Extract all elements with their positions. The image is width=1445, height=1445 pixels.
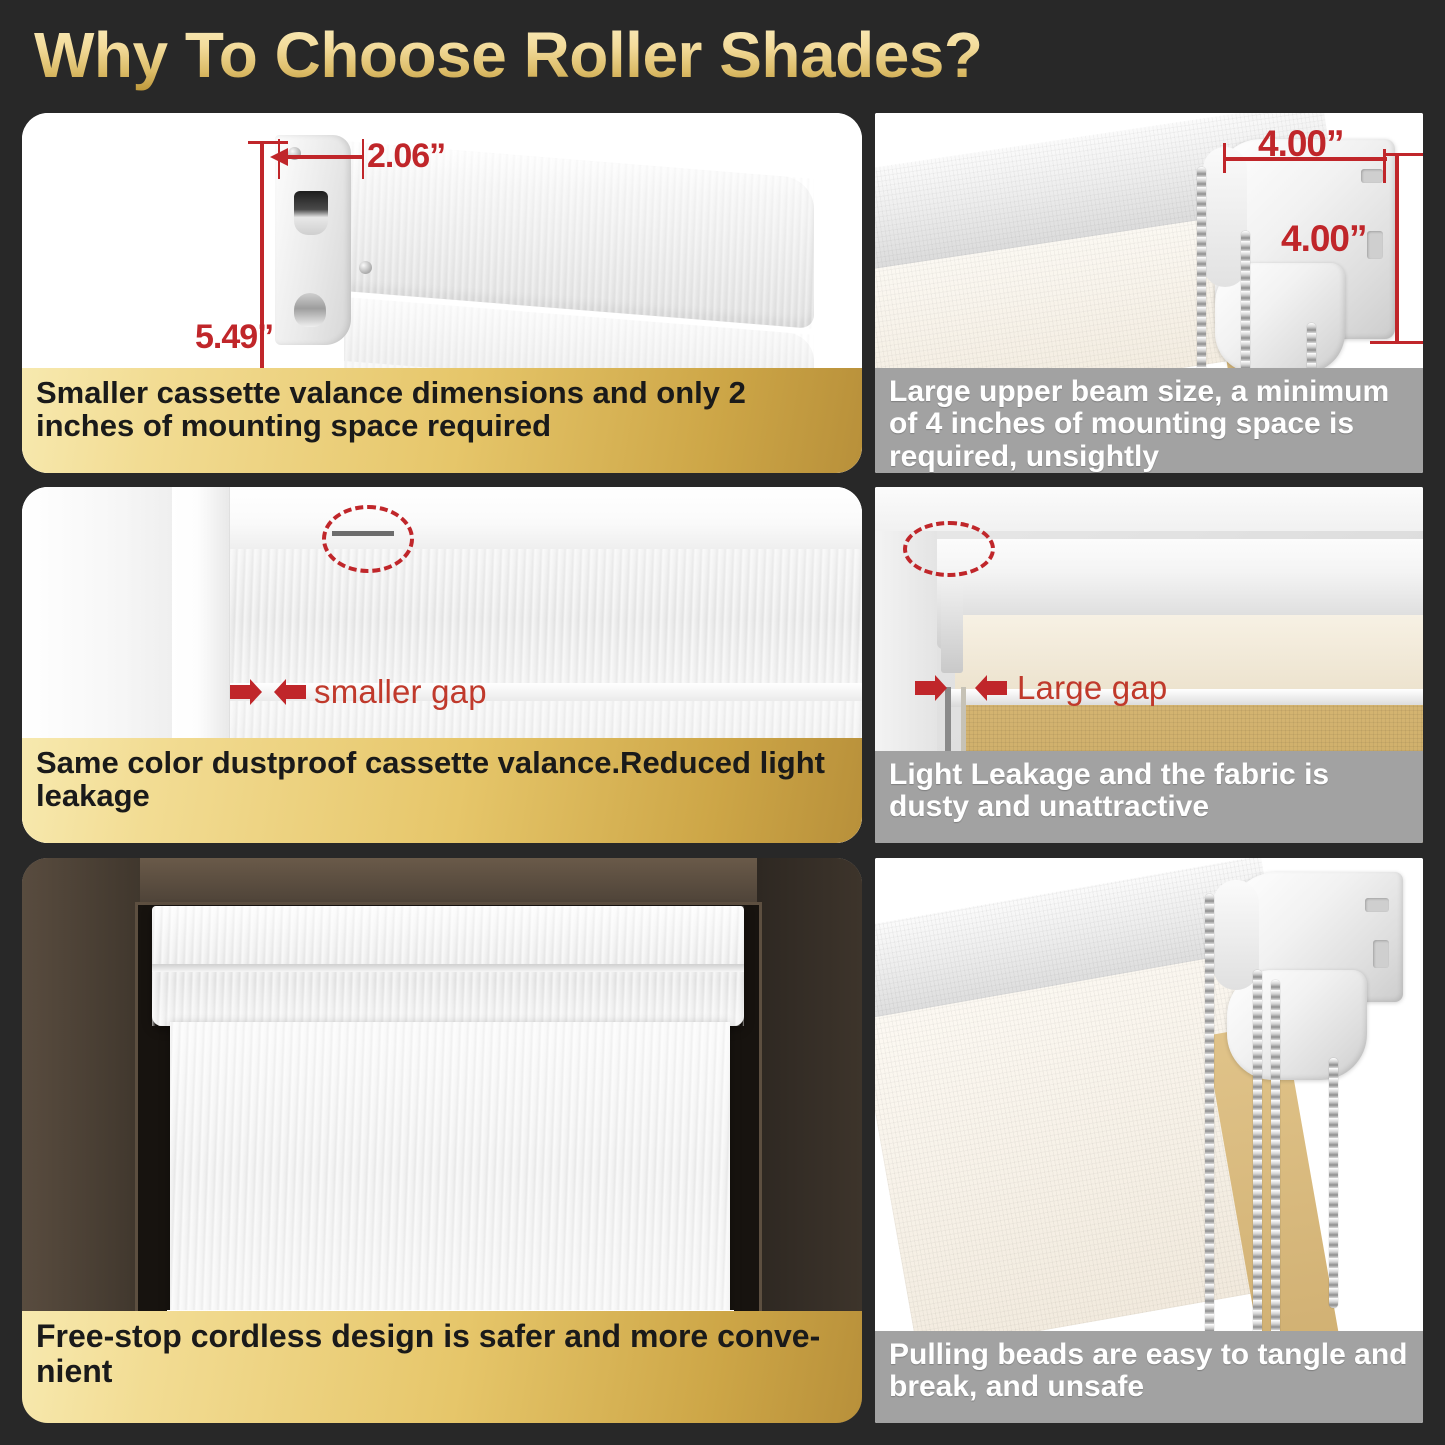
comparison-grid: 2.06” 5.49” Smaller cassette valance dim… — [0, 0, 1445, 1445]
panel-5-caption: Free-stop cordless design is safer and m… — [22, 1311, 862, 1423]
highlight-circle — [322, 505, 414, 573]
panel-large-upper-beam: 4.00” 4.00” Large upper beam size, a min… — [875, 113, 1423, 473]
roller-shade-fabric — [170, 1022, 730, 1322]
panel-smaller-cassette: 2.06” 5.49” Smaller cassette valance dim… — [22, 113, 862, 473]
height-dimension-label: 4.00” — [1281, 218, 1367, 260]
valance-seam — [332, 531, 394, 536]
panel-6-caption: Pulling beads are easy to tangle and bre… — [875, 1331, 1423, 1423]
screw-hole-mid — [359, 261, 372, 274]
width-dimension-label: 2.06” — [367, 137, 445, 176]
panel-cordless-design: Free-stop cordless design is safer and m… — [22, 858, 862, 1423]
bead-chain-tail[interactable] — [1329, 1058, 1338, 1308]
dim-line-horizontal — [278, 155, 364, 159]
width-dimension-label: 4.00” — [1258, 123, 1344, 165]
height-dimension-label: 5.49” — [195, 318, 273, 357]
dim-tick-right — [362, 139, 364, 179]
gap-callout-label: smaller gap — [314, 673, 487, 711]
head-moulding — [190, 487, 862, 553]
end-cap-slot-upper — [294, 191, 328, 235]
panel-4-caption: Light Leakage and the fabric is dusty an… — [875, 751, 1423, 843]
panel-pulling-beads: Pulling beads are easy to tangle and bre… — [875, 858, 1423, 1423]
panel-large-gap: Large gap Light Leakage and the fabric i… — [875, 487, 1423, 843]
gap-arrow-left-icon — [975, 675, 1007, 701]
dim-cap-top — [1383, 153, 1423, 156]
end-cap-slot-lower — [294, 293, 326, 327]
panel-3-caption: Same color dustproof cassette valance.Re… — [22, 738, 862, 843]
dim-arrow-left-icon — [270, 146, 290, 168]
dim-cap-bottom — [1370, 341, 1423, 344]
panel-smaller-gap: smaller gap Same color dustproof cassett… — [22, 487, 862, 843]
panel-1-caption: Smaller cassette valance dimensions and … — [22, 368, 862, 473]
cassette-valance — [152, 906, 744, 1026]
dim-cap-top — [248, 141, 288, 144]
gap-arrow-right-icon — [230, 679, 262, 705]
gap-callout-label: Large gap — [1017, 669, 1167, 707]
highlight-circle — [903, 521, 995, 577]
bead-chain-rear[interactable] — [1271, 980, 1280, 1350]
gap-arrow-right-icon — [915, 675, 947, 701]
gap-arrow-left-icon — [274, 679, 306, 705]
roller-mechanism — [941, 583, 963, 673]
bead-chain-middle[interactable] — [1253, 970, 1262, 1350]
bead-chain-front[interactable] — [1205, 894, 1214, 1344]
panel-2-caption: Large upper beam size, a minimum of 4 in… — [875, 368, 1423, 473]
dim-line-vertical — [1395, 153, 1399, 343]
dim-tick-left — [1223, 143, 1226, 173]
cassette-valance — [227, 549, 862, 689]
